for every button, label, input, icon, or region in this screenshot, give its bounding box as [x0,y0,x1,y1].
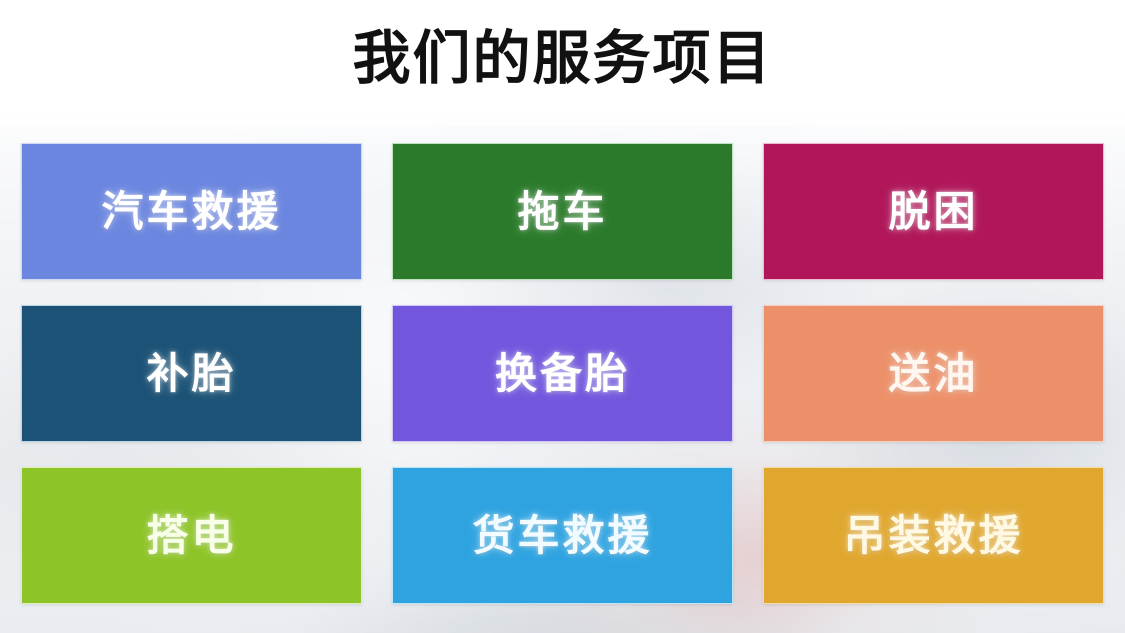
service-tile-crane-rescue[interactable]: 吊装救援 [763,467,1104,604]
service-tile-grid: 汽车救援 拖车 脱困 补胎 换备胎 送油 搭电 货车救援 吊装救援 [21,143,1104,605]
service-tile-label: 拖车 [517,191,607,233]
service-tile-car-rescue[interactable]: 汽车救援 [21,143,362,280]
service-tile-extrication[interactable]: 脱困 [763,143,1104,280]
service-tile-label: 搭电 [146,515,236,557]
page-title: 我们的服务项目 [352,30,772,96]
service-tile-label: 脱困 [888,191,978,233]
service-tile-fuel-delivery[interactable]: 送油 [763,305,1104,442]
service-tile-tow-truck[interactable]: 拖车 [392,143,733,280]
service-tile-truck-rescue[interactable]: 货车救援 [392,467,733,604]
service-tile-label: 送油 [888,353,978,395]
poster-header: 我们的服务项目 [0,0,1125,126]
service-poster: 我们的服务项目 汽车救援 拖车 脱困 补胎 换备胎 送油 搭电 货车救援 吊装救… [0,0,1125,633]
service-tile-label: 吊装救援 [843,515,1023,557]
service-tile-tire-repair[interactable]: 补胎 [21,305,362,442]
service-tile-label: 补胎 [146,353,236,395]
service-tile-jump-start[interactable]: 搭电 [21,467,362,604]
service-tile-label: 货车救援 [472,515,652,557]
service-tile-label: 汽车救援 [101,191,281,233]
service-tile-spare-tire-change[interactable]: 换备胎 [392,305,733,442]
service-tile-label: 换备胎 [495,353,630,395]
